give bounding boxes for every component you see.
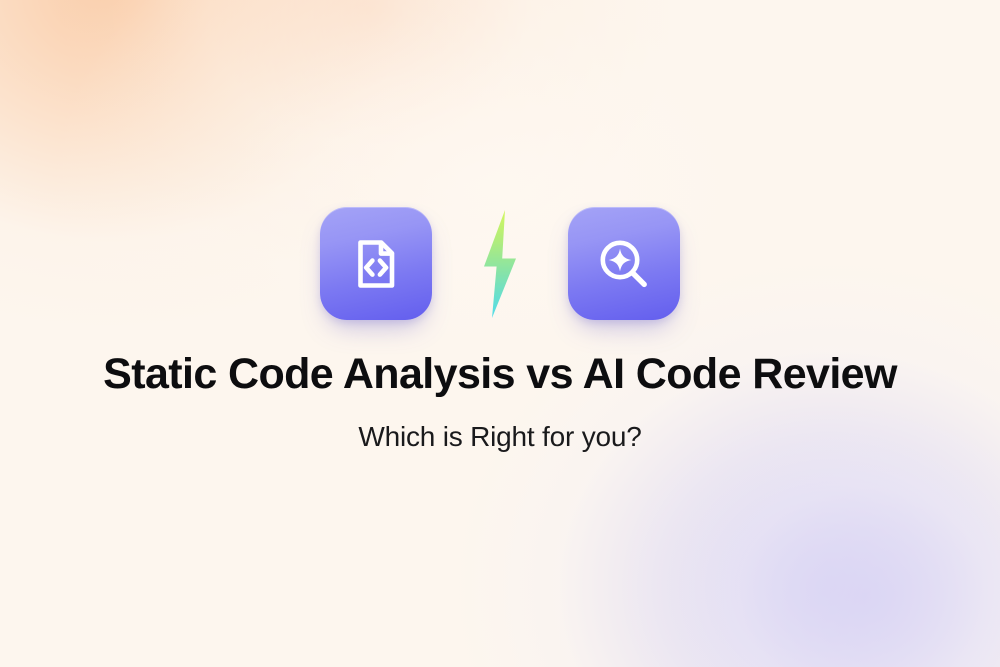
page-subtitle: Which is Right for you? [358, 420, 641, 454]
hero-banner: Static Code Analysis vs AI Code Review W… [0, 0, 1000, 667]
code-document-icon [345, 233, 407, 295]
lightning-bolt-icon [483, 210, 517, 318]
background-glow-lavender-secondary [650, 407, 1000, 667]
page-title: Static Code Analysis vs AI Code Review [103, 351, 897, 398]
static-code-analysis-icon-tile [320, 207, 432, 320]
ai-search-sparkle-icon [593, 233, 655, 295]
ai-code-review-icon-tile [568, 207, 680, 320]
versus-connector [432, 207, 568, 320]
icon-row [320, 207, 680, 320]
